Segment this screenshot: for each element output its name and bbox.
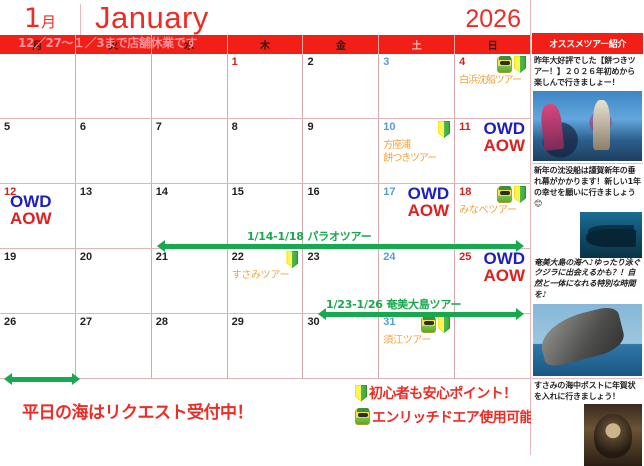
aow-course-label: AOW	[408, 202, 450, 219]
day-cell-6[interactable]: 6	[76, 119, 152, 183]
year-label: 2026	[465, 7, 530, 35]
month-en-title: January	[81, 2, 209, 35]
day-cell-top: 24	[383, 251, 451, 263]
day-cell-5[interactable]: 5	[0, 119, 76, 183]
day-cell-4[interactable]: 4白浜沈船ツアー	[455, 54, 530, 118]
day-cell-top: 8	[232, 121, 300, 133]
beginner-badge-icon	[514, 56, 526, 73]
day-number: 27	[80, 316, 92, 328]
aow-course-label: AOW	[483, 267, 525, 284]
day-cell-top: 9	[307, 121, 375, 133]
calendar-week-row: 1234白浜沈船ツアー	[0, 54, 530, 119]
aow-course-label: AOW	[483, 137, 525, 154]
day-cell-31[interactable]: 31須江ツアー	[379, 314, 455, 378]
day-cell-top: 28	[156, 316, 224, 328]
calendar-week-row: 5678910方座浦餅つきツアー11OWDAOW	[0, 119, 530, 184]
tour-bar-amami-label: 1/23-1/26 奄美大島ツアー	[326, 296, 461, 312]
day-cell-3[interactable]: 3	[379, 54, 455, 118]
day-cell-top: 2	[307, 56, 375, 68]
enrich-air-icon	[421, 317, 436, 333]
tour-bar-amami	[325, 312, 517, 317]
month-jp-number: 1	[24, 3, 41, 34]
aow-course-label: AOW	[10, 210, 52, 227]
day-cell-top: 22	[232, 251, 300, 268]
sidebar-banner: オススメツアー紹介	[532, 33, 643, 54]
tour-label: 須江ツアー	[383, 335, 451, 348]
day-cell-top: 14	[156, 186, 224, 198]
day-cell-top: 31	[383, 316, 451, 333]
calendar-page: 1月 January 2026 月 火 水 木 金 土 日 1234白浜沈船ツア…	[0, 0, 644, 455]
day-cell-22[interactable]: 22すさみツアー	[228, 249, 304, 313]
day-cell-27[interactable]: 27	[76, 314, 152, 378]
day-cell-21[interactable]: 21	[152, 249, 228, 313]
enrich-air-icon	[497, 57, 512, 73]
day-number: 23	[307, 251, 319, 263]
weekday-thu: 木	[228, 35, 304, 54]
day-cell-2[interactable]: 2	[303, 54, 379, 118]
day-number: 31	[383, 316, 395, 328]
day-cell-top: 27	[80, 316, 148, 328]
day-number: 21	[156, 251, 168, 263]
diver-portrait-photo	[584, 404, 642, 466]
day-cell-17[interactable]: 17OWDAOW	[379, 184, 455, 248]
month-jp-kanji: 月	[41, 13, 56, 31]
tour-label: みなべツアー	[459, 205, 527, 218]
legend-area: 初心者も安心ポイント！ エンリッチドエア使用可能！	[355, 383, 546, 431]
day-cell-9[interactable]: 9	[303, 119, 379, 183]
day-cell-empty	[0, 54, 76, 118]
legend-beginner-text: 初心者も安心ポイント！	[369, 383, 516, 403]
breaching-whale-photo	[533, 304, 642, 376]
day-cell-top: 16	[307, 186, 375, 198]
weekday-sun: 日	[455, 35, 530, 54]
calendar-header: 1月 January 2026	[0, 0, 530, 35]
day-cell-14[interactable]: 14	[152, 184, 228, 248]
calendar-area: 1月 January 2026 月 火 水 木 金 土 日 1234白浜沈船ツア…	[0, 0, 531, 455]
day-cell-25[interactable]: 25OWDAOW	[455, 249, 530, 313]
beginner-badge-icon	[438, 316, 450, 333]
day-cell-top: 29	[232, 316, 300, 328]
beginner-badge-icon	[286, 251, 298, 268]
sidebar-text-mochitsuki: 昨年大好評でした【餅つきツアー！】２０２６年初めから楽しんで行きましょー！	[531, 56, 644, 88]
owd-course-label: OWD	[10, 193, 52, 210]
day-number: 15	[232, 186, 244, 198]
day-cell-top: 6	[80, 121, 148, 133]
day-cell-7[interactable]: 7	[152, 119, 228, 183]
legend-row-beginner: 初心者も安心ポイント！	[355, 383, 546, 403]
day-cell-19[interactable]: 19	[0, 249, 76, 313]
certification-course: OWDAOW	[483, 120, 525, 155]
tour-label: すさみツアー	[232, 270, 300, 283]
day-cell-top: 15	[232, 186, 300, 198]
day-cell-empty	[76, 54, 152, 118]
day-cell-top: 10	[383, 121, 451, 138]
day-icons	[421, 316, 451, 333]
tour-bar-palau-label: 1/14-1/18 パラオツアー	[247, 228, 372, 244]
day-number: 20	[80, 251, 92, 263]
day-number: 24	[383, 251, 395, 263]
certification-course: OWDAOW	[483, 250, 525, 285]
weekday-sat: 土	[379, 35, 455, 54]
day-number: 16	[307, 186, 319, 198]
day-icons	[438, 121, 451, 138]
sidebar-text-shipwreck: 新年の沈没船は謹賀新年の垂れ幕がかかります！新しい1年の幸せを願いに行きましょう…	[531, 166, 644, 209]
sidebar-text-susami: すさみの海中ポストに年賀状を入れに行きましょう！	[531, 381, 644, 403]
owd-course-label: OWD	[483, 120, 525, 137]
day-cell-top: 3	[383, 56, 451, 68]
owd-course-label: OWD	[408, 185, 450, 202]
sidebar-text-amami: 奄美大島の海へ♪ゆったり泳ぐクジラに出会えるかも？！自然と一体になれる特別な時間…	[531, 258, 644, 301]
day-cell-top: 19	[4, 251, 72, 263]
beginner-badge-icon	[514, 186, 526, 203]
day-cell-1[interactable]: 1	[228, 54, 304, 118]
calendar-footer: 平日の海はリクエスト受付中！ 初心者も安心ポイント！ エンリッチドエア使用可能！	[0, 379, 530, 441]
weekday-fri: 金	[303, 35, 379, 54]
day-cell-29[interactable]: 29	[228, 314, 304, 378]
day-cell-top: 7	[156, 121, 224, 133]
recommended-tours-sidebar: オススメツアー紹介 昨年大好評でした【餅つきツアー！】２０２６年初めから楽しんで…	[531, 0, 644, 455]
day-number: 5	[4, 121, 10, 133]
day-icons	[286, 251, 299, 268]
day-cell-top: 4	[459, 56, 527, 73]
weekday-request-message: 平日の海はリクエスト受付中！	[22, 398, 253, 423]
day-number: 4	[459, 56, 465, 68]
tour-bar-palau	[164, 244, 517, 249]
day-cell-top: 13	[80, 186, 148, 198]
day-cell-top: 26	[4, 316, 72, 328]
day-cell-top: 23	[307, 251, 375, 263]
day-cell-empty	[455, 314, 530, 378]
day-icons	[497, 186, 527, 203]
day-number: 22	[232, 251, 244, 263]
day-number: 10	[383, 121, 395, 133]
day-number: 25	[459, 251, 471, 263]
day-cell-empty	[152, 54, 228, 118]
tour-label: 方座浦餅つきツアー	[383, 140, 451, 165]
day-cell-top: 18	[459, 186, 527, 203]
sidebar-divider-1	[532, 163, 643, 164]
day-number: 7	[156, 121, 162, 133]
day-number: 26	[4, 316, 16, 328]
day-number: 28	[156, 316, 168, 328]
day-cell-10[interactable]: 10方座浦餅つきツアー	[379, 119, 455, 183]
certification-course: OWDAOW	[408, 185, 450, 220]
day-cell-28[interactable]: 28	[152, 314, 228, 378]
day-number: 2	[307, 56, 313, 68]
day-number: 14	[156, 186, 168, 198]
day-number: 13	[80, 186, 92, 198]
day-cell-top: 1	[232, 56, 300, 68]
legend-row-enrich: エンリッチドエア使用可能！	[355, 407, 546, 427]
legend-enrich-text: エンリッチドエア使用可能！	[372, 407, 546, 427]
sidebar-divider-2	[532, 378, 643, 379]
month-jp: 1月	[0, 5, 80, 35]
day-cell-12[interactable]: 12OWDAOW	[0, 184, 76, 248]
day-number: 6	[80, 121, 86, 133]
divers-on-boat-photo	[533, 91, 642, 161]
day-cell-top: 21	[156, 251, 224, 263]
tour-label: 白浜沈船ツアー	[459, 75, 527, 88]
day-cell-13[interactable]: 13	[76, 184, 152, 248]
enrich-air-icon	[355, 409, 370, 425]
day-cell-30[interactable]: 30	[303, 314, 379, 378]
day-number: 18	[459, 186, 471, 198]
day-number: 8	[232, 121, 238, 133]
day-cell-8[interactable]: 8	[228, 119, 304, 183]
day-number: 29	[232, 316, 244, 328]
certification-course: OWDAOW	[10, 193, 52, 228]
beginner-badge-icon	[438, 121, 450, 138]
day-number: 11	[459, 121, 471, 133]
day-number: 3	[383, 56, 389, 68]
calendar-weeks: 1234白浜沈船ツアー5678910方座浦餅つきツアー11OWDAOW12OWD…	[0, 54, 530, 379]
day-number: 1	[232, 56, 238, 68]
shipwreck-underwater-photo	[580, 212, 642, 258]
day-cell-top: 5	[4, 121, 72, 133]
day-cell-20[interactable]: 20	[76, 249, 152, 313]
day-cell-26[interactable]: 26	[0, 314, 76, 378]
day-number: 19	[4, 251, 16, 263]
calendar-week-row: 262728293031須江ツアー	[0, 314, 530, 379]
owd-course-label: OWD	[483, 250, 525, 267]
day-number: 17	[383, 186, 395, 198]
day-cell-top: 20	[80, 251, 148, 263]
day-icons	[497, 56, 527, 73]
store-closed-note: 12／27〜１／3まで店舗休業です	[18, 34, 197, 51]
day-cell-11[interactable]: 11OWDAOW	[455, 119, 530, 183]
beginner-badge-icon	[355, 385, 367, 402]
day-cell-18[interactable]: 18みなべツアー	[455, 184, 530, 248]
day-number: 9	[307, 121, 313, 133]
enrich-air-icon	[497, 187, 512, 203]
